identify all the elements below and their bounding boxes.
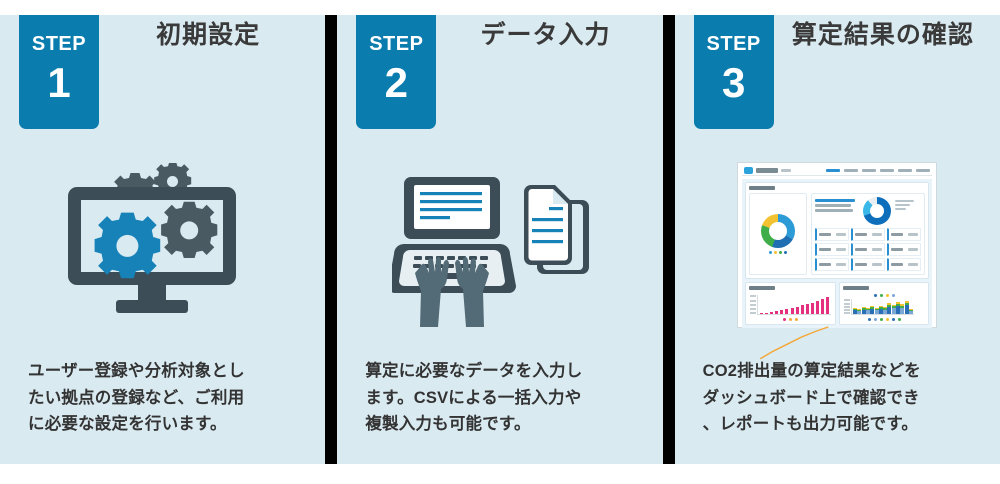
step-2-illustration [337,133,662,358]
step-1-description: ユーザー登録や分析対象とし たい拠点の登録など、ご利用 に必要な設定を行います。 [0,358,325,464]
dashboard-simulation-title [749,286,775,290]
kpi-tile[interactable] [887,228,921,241]
dashboard-nav-item[interactable] [880,169,894,172]
monthly-bar-chart [851,299,915,315]
step-panel-2[interactable]: STEP 2 データ入力 [337,15,662,464]
kpi-tile[interactable] [851,258,885,271]
donut-chart-icon [761,214,795,248]
kpi-tile[interactable] [851,243,885,256]
dashboard-nav-item[interactable] [916,169,930,172]
step-3-header: STEP 3 算定結果の確認 [675,15,1000,133]
dashboard-simulation-card [745,282,836,325]
step-2-desc-line-2: ます。CSVによる一括入力や [365,385,634,412]
step-2-title: データ入力 [436,15,662,85]
dashboard-logo-subtext [781,169,791,172]
simulation-bar-chart [757,295,831,315]
dashboard-summary-lines [815,197,859,225]
panel-divider-1 [325,15,337,464]
steps-row: STEP 1 初期設定 [0,15,1000,464]
step-3-illustration [675,133,1000,358]
step-1-badge-number: 1 [47,62,70,104]
step-1-illustration [0,133,325,358]
dashboard-breakdown-title [749,186,775,190]
kpi-tile[interactable] [815,258,849,271]
donut-chart-2-icon [863,197,891,225]
step-3-desc-line-1: CO2排出量の算定結果などを [703,358,972,385]
step-2-badge-word: STEP [369,34,423,54]
dashboard-donut-panel [749,193,807,275]
step-1-badge-word: STEP [32,34,86,54]
dashboard-summary-note [895,197,921,225]
step-1-desc-line-3: に必要な設定を行います。 [28,411,297,438]
dashboard-body [742,179,932,328]
step-3-badge: STEP 3 [694,15,774,129]
simulation-y-axis [750,295,756,314]
step-2-desc-line-3: 複製入力も可能です。 [365,411,634,438]
step-3-desc-line-3: 、レポートも出力可能です。 [703,411,972,438]
dashboard-nav-item[interactable] [898,169,912,172]
step-2-desc-line-1: 算定に必要なデータを入力し [365,358,634,385]
kpi-tile[interactable] [815,228,849,241]
monthly-bar [909,309,913,315]
dashboard-logo-text [756,168,778,173]
monthly-y-axis [844,299,850,314]
step-2-badge: STEP 2 [356,15,436,129]
step-2-header: STEP 2 データ入力 [337,15,662,133]
dashboard-logo-icon [744,167,753,174]
dashboard-nav-item[interactable] [862,169,876,172]
step-3-title: 算定結果の確認 [774,15,1000,85]
simulation-trend-line [758,295,831,368]
step-1-badge: STEP 1 [19,15,99,129]
monitor-gears-icon [58,163,268,328]
dashboard-topbar [742,167,932,176]
step-panel-3[interactable]: STEP 3 算定結果の確認 [675,15,1000,464]
kpi-tile[interactable] [851,228,885,241]
monthly-bars [852,299,915,314]
step-3-badge-word: STEP [707,34,761,54]
monthly-bottom-legend [843,317,926,321]
kpi-tile[interactable] [815,243,849,256]
laptop-typing-documents-icon [392,163,607,328]
dashboard-summary-panel [811,193,925,275]
steps-infographic: STEP 1 初期設定 [0,0,1000,484]
dashboard-charts-row [745,282,929,325]
step-3-desc-line-2: ダッシュボード上で確認でき [703,385,972,412]
dashboard-monthly-title [843,286,869,290]
step-1-title: 初期設定 [99,15,325,85]
kpi-tile[interactable] [887,258,921,271]
dashboard-nav-item-active[interactable] [826,169,840,172]
dashboard-nav[interactable] [826,169,930,172]
kpi-tile[interactable] [887,243,921,256]
step-1-desc-line-2: たい拠点の登録など、ご利用 [28,385,297,412]
dashboard-nav-item[interactable] [844,169,858,172]
step-3-badge-number: 3 [722,62,745,104]
step-3-description: CO2排出量の算定結果などを ダッシュボード上で確認でき 、レポートも出力可能で… [675,358,1000,464]
dashboard-screenshot-icon [737,162,937,328]
panel-divider-2 [663,15,675,464]
step-1-header: STEP 1 初期設定 [0,15,325,133]
step-panel-1[interactable]: STEP 1 初期設定 [0,15,325,464]
dashboard-kpi-grid [815,228,921,271]
step-2-badge-number: 2 [385,62,408,104]
dashboard-breakdown-card [745,182,929,279]
step-2-description: 算定に必要なデータを入力し ます。CSVによる一括入力や 複製入力も可能です。 [337,358,662,464]
donut-legend [769,251,787,254]
step-1-desc-line-1: ユーザー登録や分析対象とし [28,358,297,385]
dashboard-monthly-card [839,282,930,325]
